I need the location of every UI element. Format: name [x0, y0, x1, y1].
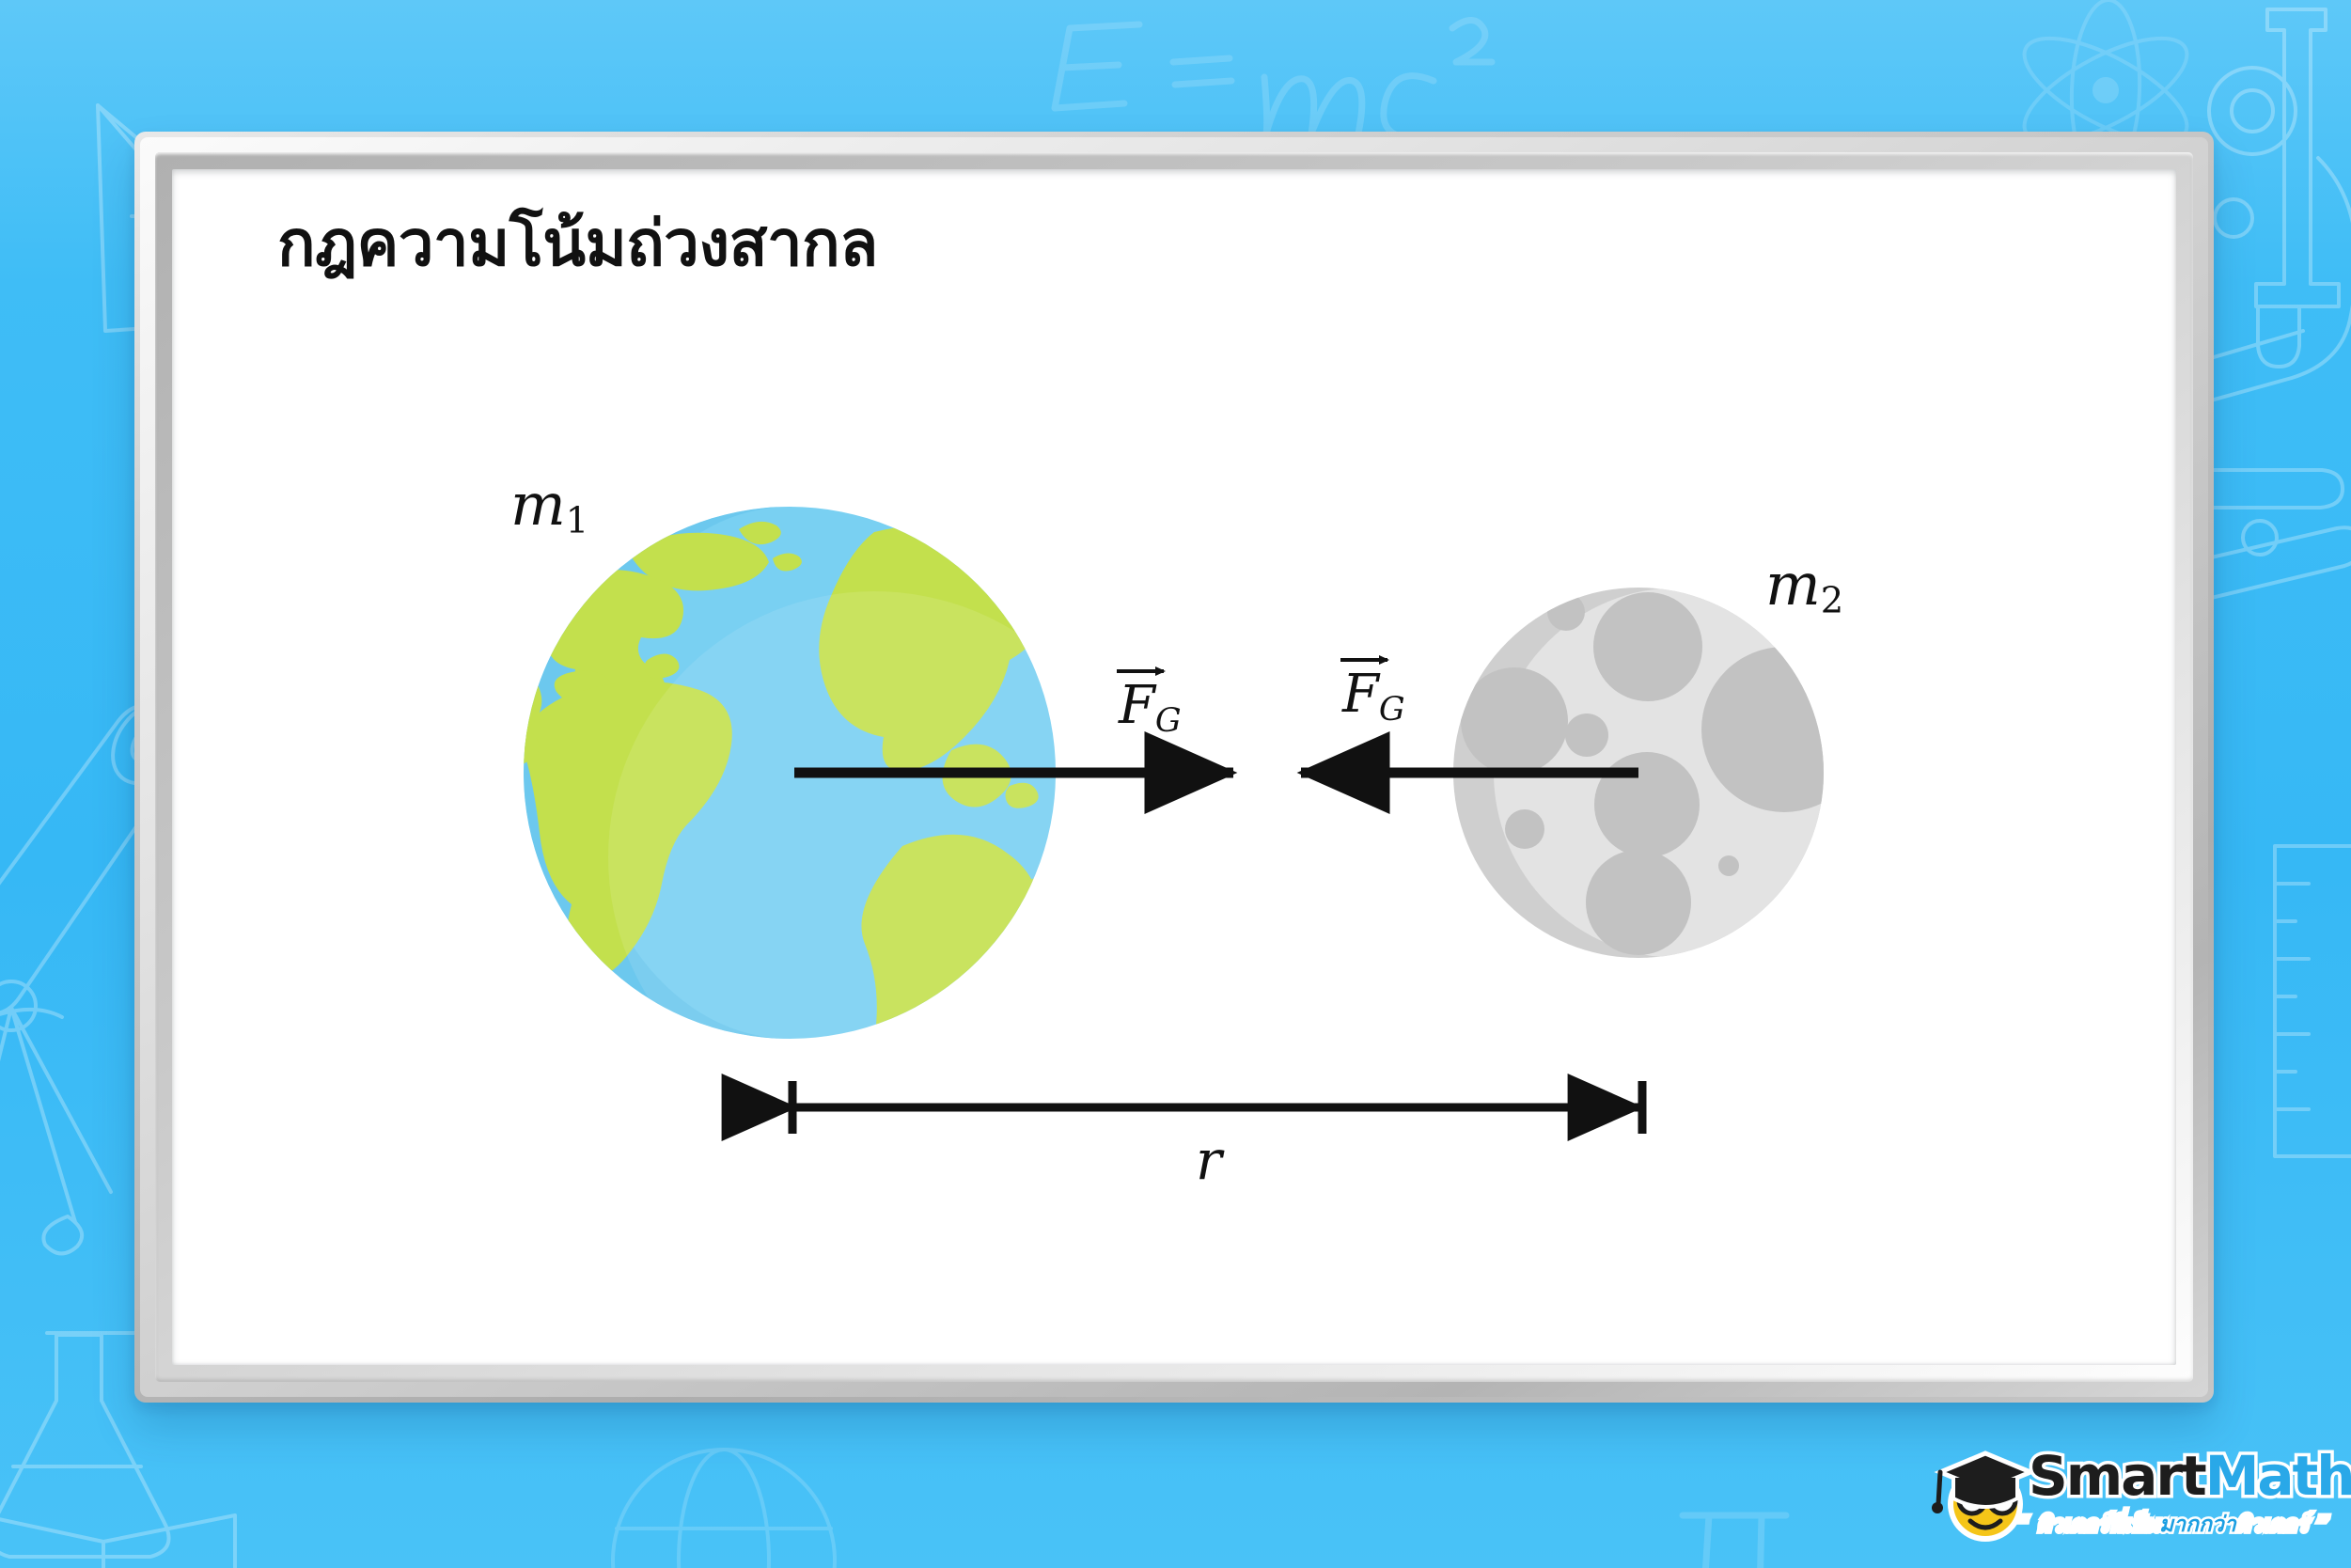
distance-label-r: r: [1196, 1128, 1222, 1192]
emc2-doodle: [1055, 20, 1492, 137]
logo-part-smart: Smart: [2029, 1444, 2205, 1508]
force-label-right: FG: [1342, 664, 1405, 729]
page-title: กฎความโน้มถ่วงสากล: [277, 193, 878, 293]
book-doodle: [0, 1515, 235, 1568]
logo-wordmark: SmartMathPro: [2029, 1444, 2351, 1508]
logo-tagline: “ ติวเตอร์ที่เป็นมากกว่าติวเตอร์ ”: [2015, 1508, 2329, 1542]
globe-doodle: [613, 1450, 835, 1568]
force-label-left: FG: [1119, 675, 1182, 740]
pi-doodle: [1683, 1515, 1786, 1568]
whiteboard: [134, 132, 2214, 1403]
tagline-part-2: มากกว่า: [2159, 1513, 2236, 1537]
mass-label-m1: m1: [510, 470, 588, 541]
ruler-doodle: [2275, 846, 2351, 1156]
mass-label-m2: m2: [1765, 550, 1843, 621]
logo-part-math: Math: [2205, 1444, 2351, 1508]
smartmathpro-logo: SmartMathPro “ ติวเตอร์ที่เป็นมากกว่าติว…: [1925, 1442, 2311, 1553]
tagline-part-3: ติวเตอร์ ”: [2236, 1513, 2330, 1537]
tagline-part-1: “ ติวเตอร์ที่เป็น: [2015, 1513, 2159, 1537]
whiteboard-surface: [172, 169, 2176, 1365]
